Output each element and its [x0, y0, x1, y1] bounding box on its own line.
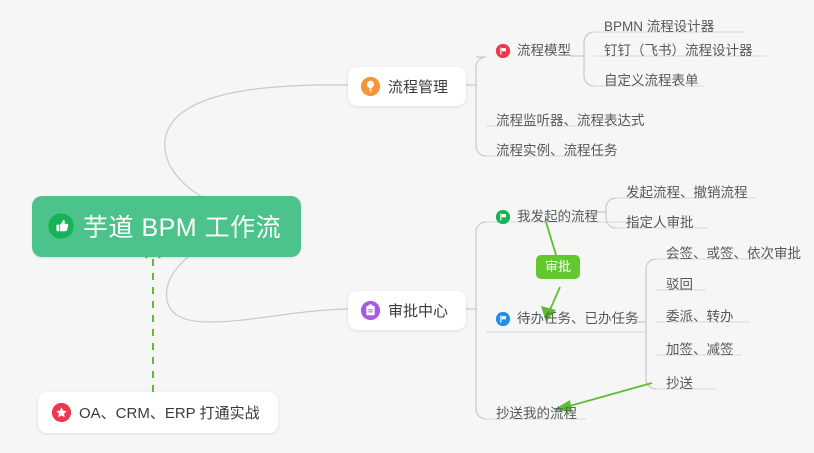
wire-process-management-bracket [476, 57, 486, 156]
clipboard-icon [361, 301, 380, 320]
leaf-label: 驳回 [666, 278, 693, 292]
root-node[interactable]: 芋道 BPM 工作流 [32, 196, 301, 257]
leaf-label: 指定人审批 [626, 216, 694, 230]
leaf-start-cancel-process[interactable]: 发起流程、撤销流程 [616, 186, 758, 204]
leaf-instance-task[interactable]: 流程实例、流程任务 [486, 144, 628, 162]
annotation-arrow-cc [566, 383, 652, 407]
branch-label: 审批中心 [388, 300, 448, 321]
node-label: 待办任务、已办任务 [517, 312, 639, 326]
star-icon [52, 403, 71, 422]
node-label: 流程模型 [517, 44, 571, 58]
leaf-reject[interactable]: 驳回 [656, 278, 703, 296]
flag-icon [496, 312, 510, 326]
node-todo-done[interactable]: 待办任务、已办任务 [486, 312, 649, 330]
flag-icon [496, 44, 510, 58]
leaf-cc-to-me[interactable]: 抄送我的流程 [486, 407, 587, 425]
leaf-label: 流程监听器、流程表达式 [496, 114, 645, 128]
wire-approval-center-bracket [476, 222, 486, 419]
leaf-label: 抄送我的流程 [496, 407, 577, 421]
leaf-label: 自定义流程表单 [604, 74, 699, 88]
root-label: 芋道 BPM 工作流 [83, 208, 281, 244]
leaf-custom-form[interactable]: 自定义流程表单 [594, 74, 709, 92]
leaf-label: 加签、减签 [666, 343, 734, 357]
leaf-assignee-approval[interactable]: 指定人审批 [616, 216, 704, 234]
leaf-add-remove-sign[interactable]: 加签、减签 [656, 343, 744, 361]
flag-icon [496, 210, 510, 224]
branch-label: 流程管理 [388, 76, 448, 97]
leaf-bpmn-designer[interactable]: BPMN 流程设计器 [594, 20, 724, 38]
leaf-dingtalk-designer[interactable]: 钉钉（飞书）流程设计器 [594, 44, 763, 62]
leaf-label: 发起流程、撤销流程 [626, 186, 748, 200]
leaf-label: 会签、或签、依次审批 [666, 247, 801, 261]
wire-process-model-bracket [584, 32, 594, 86]
leaf-cc[interactable]: 抄送 [656, 377, 703, 395]
branch-approval-center[interactable]: 审批中心 [348, 291, 466, 330]
lightbulb-icon [361, 77, 380, 96]
leaf-label: 抄送 [666, 377, 693, 391]
leaf-listener-expression[interactable]: 流程监听器、流程表达式 [486, 114, 655, 132]
node-my-started[interactable]: 我发起的流程 [486, 210, 608, 228]
bottom-note-node[interactable]: OA、CRM、ERP 打通实战 [38, 392, 278, 433]
leaf-countersign[interactable]: 会签、或签、依次审批 [656, 247, 811, 265]
leaf-delegate-transfer[interactable]: 委派、转办 [656, 310, 744, 328]
annotation-badge-approval: 审批 [536, 255, 580, 279]
node-process-model[interactable]: 流程模型 [486, 44, 581, 62]
leaf-label: 流程实例、流程任务 [496, 144, 618, 158]
annotation-badge-label: 审批 [545, 259, 571, 274]
leaf-label: BPMN 流程设计器 [604, 20, 714, 34]
bottom-note-label: OA、CRM、ERP 打通实战 [79, 402, 260, 423]
thumbs-up-icon [48, 213, 74, 239]
mindmap-canvas: 芋道 BPM 工作流 OA、CRM、ERP 打通实战 流程管理 [0, 0, 814, 453]
leaf-label: 委派、转办 [666, 310, 734, 324]
node-label: 我发起的流程 [517, 210, 598, 224]
branch-process-management[interactable]: 流程管理 [348, 67, 466, 106]
leaf-label: 钉钉（飞书）流程设计器 [604, 44, 753, 58]
